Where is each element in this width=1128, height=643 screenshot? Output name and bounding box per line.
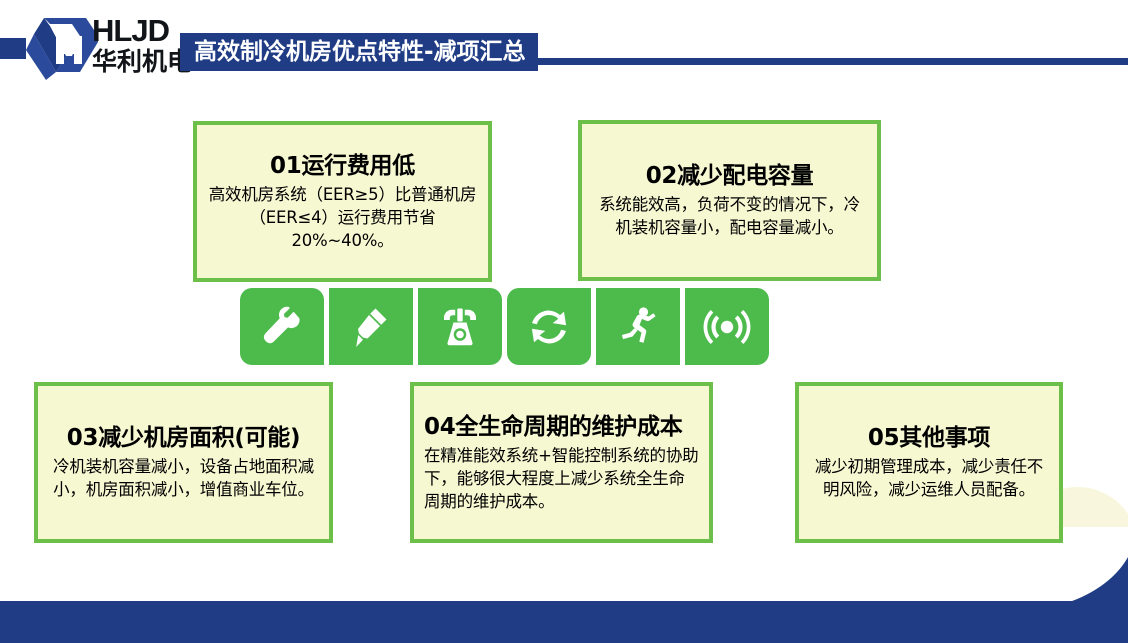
benefit-card-03[interactable]: 03减少机房面积(可能) 冷机装机容量减小，设备占地面积减小，机房面积减小，增值… (34, 382, 333, 543)
screwdriver-icon (348, 304, 394, 350)
telephone-icon (437, 304, 483, 350)
benefit-card-03-title: 03减少机房面积(可能) (48, 424, 319, 453)
company-logo: HLJD 华利机电 (26, 12, 191, 84)
benefit-card-03-body: 冷机装机容量减小，设备占地面积减小，机房面积减小，增值商业车位。 (48, 455, 319, 501)
icon-tile-running-person[interactable] (596, 288, 680, 365)
slide-header: HLJD 华利机电 高效制冷机房优点特性-减项汇总 (0, 0, 1128, 96)
running-person-icon (615, 304, 661, 350)
icon-tile-wrench[interactable] (240, 288, 324, 365)
page-title: 高效制冷机房优点特性-减项汇总 (180, 33, 538, 71)
refresh-sync-icon (525, 303, 573, 351)
footer-bar (0, 601, 1128, 643)
benefit-card-02-body: 系统能效高，负荷不变的情况下，冷机装机容量小，配电容量减小。 (592, 193, 867, 239)
benefit-card-04[interactable]: 04全生命周期的维护成本 在精准能效系统+智能控制系统的协助下，能够很大程度上减… (410, 382, 713, 543)
wrench-icon (259, 304, 305, 350)
header-accent-square (0, 38, 26, 59)
hljd-hexagon-logo-icon (26, 16, 98, 82)
benefit-card-05[interactable]: 05其他事项 减少初期管理成本，减少责任不明风险，减少运维人员配备。 (795, 382, 1063, 543)
benefit-card-01-body: 高效机房系统（EER≥5）比普通机房（EER≤4）运行费用节省20%~40%。 (207, 183, 478, 252)
benefit-card-01-title: 01运行费用低 (207, 152, 478, 181)
slide-canvas: HLJD 华利机电 高效制冷机房优点特性-减项汇总 01运行费用低 高效机房系统… (0, 0, 1128, 643)
icon-tile-telephone[interactable] (418, 288, 502, 365)
icon-tile-broadcast[interactable] (685, 288, 769, 365)
benefit-card-05-title: 05其他事项 (809, 424, 1049, 453)
benefit-card-04-body: 在精准能效系统+智能控制系统的协助下，能够很大程度上减少系统全生命周期的维护成本… (424, 444, 699, 513)
benefit-card-02[interactable]: 02减少配电容量 系统能效高，负荷不变的情况下，冷机装机容量小，配电容量减小。 (578, 120, 881, 281)
broadcast-signal-icon (703, 305, 751, 349)
icon-tile-screwdriver[interactable] (329, 288, 413, 365)
benefit-card-04-title: 04全生命周期的维护成本 (424, 413, 699, 442)
benefit-card-01[interactable]: 01运行费用低 高效机房系统（EER≥5）比普通机房（EER≤4）运行费用节省2… (193, 121, 492, 282)
benefit-card-02-title: 02减少配电容量 (592, 162, 867, 191)
service-icon-strip (240, 288, 769, 365)
icon-tile-refresh[interactable] (507, 288, 591, 365)
benefit-card-05-body: 减少初期管理成本，减少责任不明风险，减少运维人员配备。 (809, 455, 1049, 501)
